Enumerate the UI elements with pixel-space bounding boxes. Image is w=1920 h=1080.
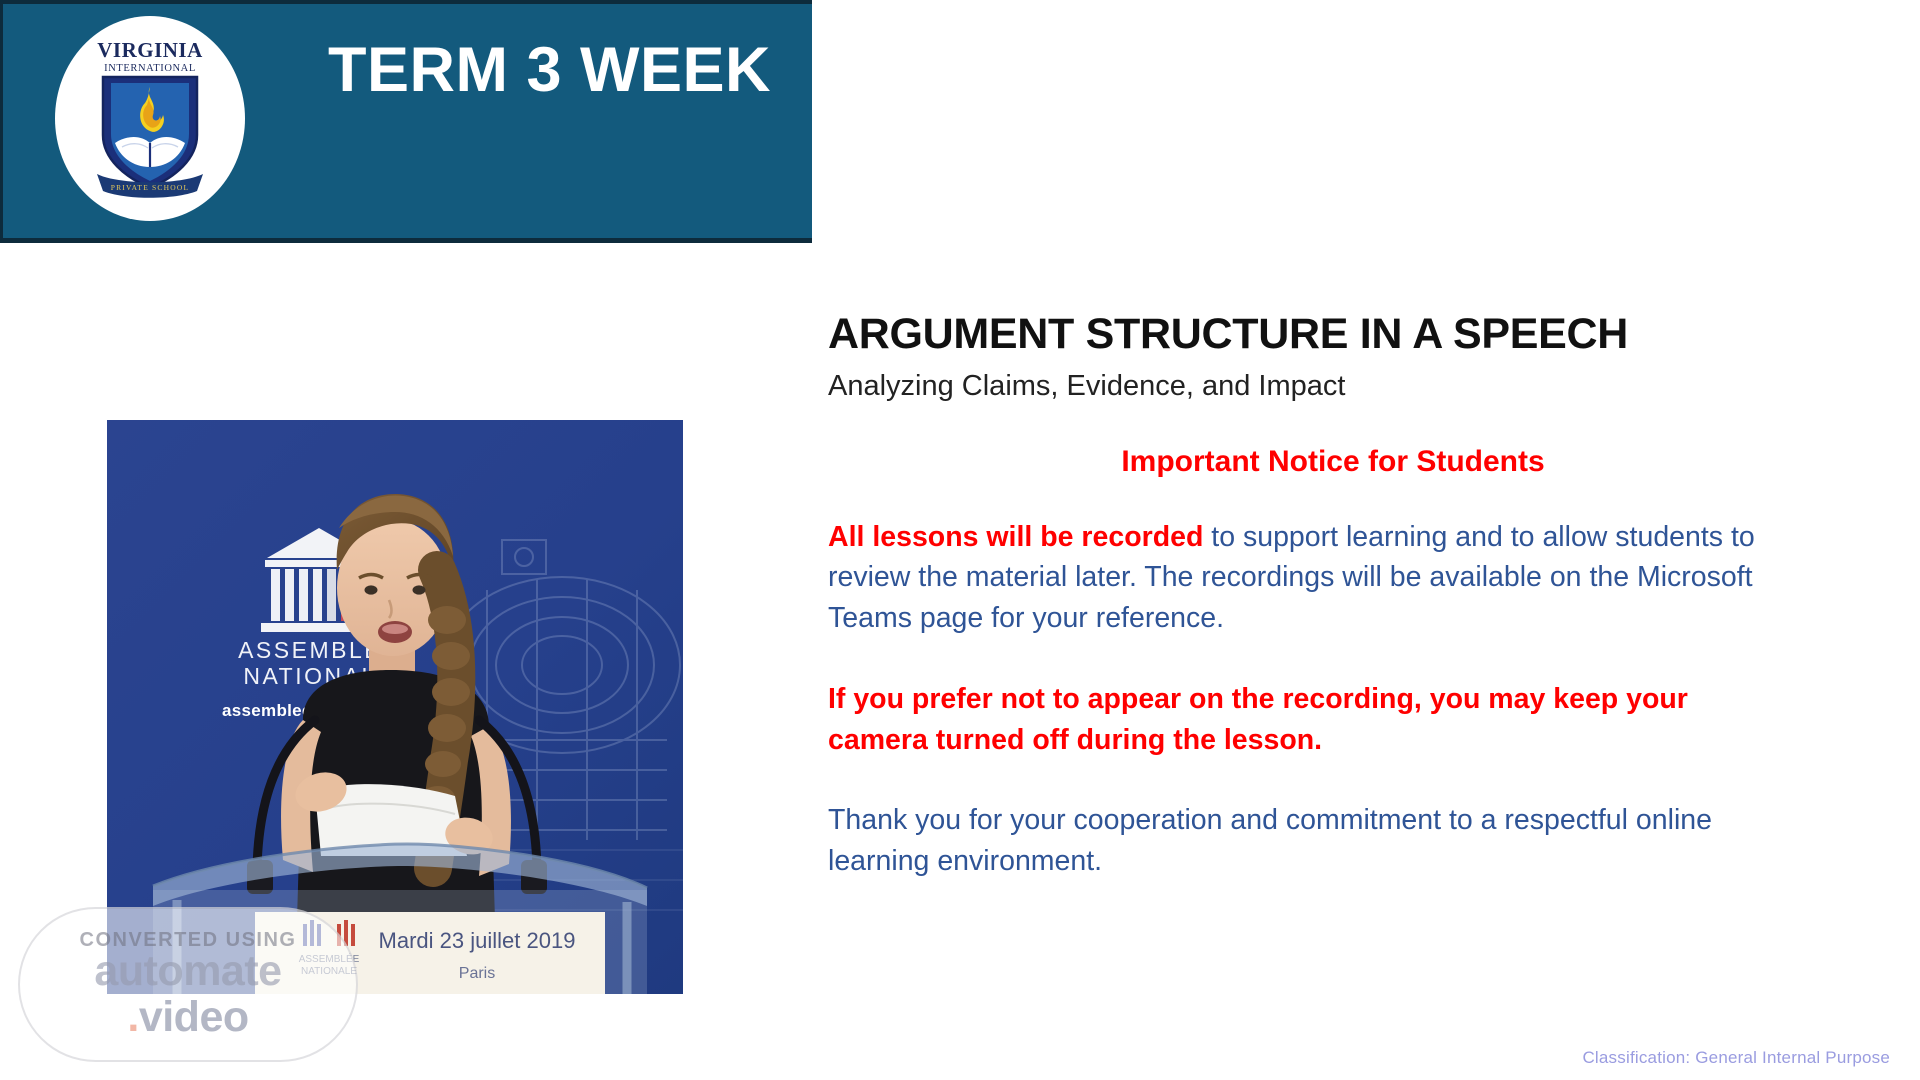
school-logo: VIRGINIA INTERNATIONAL PRIVATE SCHOOL <box>55 16 245 221</box>
speaker-photo-graphic: ASSEMBLÉE NATIONALE assemblee-nationale. <box>107 420 683 994</box>
page-title: ARGUMENT STRUCTURE IN A SPEECH <box>828 310 1838 358</box>
svg-text:Mardi 23 juillet 2019: Mardi 23 juillet 2019 <box>379 928 576 953</box>
banner-title: TERM 3 WEEK <box>328 36 771 105</box>
watermark-domain-word: video <box>139 993 249 1041</box>
svg-text:NATIONALE: NATIONALE <box>301 966 357 977</box>
slide-canvas: VIRGINIA INTERNATIONAL PRIVATE SCHOOL TE… <box>0 0 1920 1080</box>
content-column: ARGUMENT STRUCTURE IN A SPEECH Analyzing… <box>828 310 1838 881</box>
classification-label: Classification: General Internal Purpose <box>1582 1048 1890 1068</box>
svg-text:Paris: Paris <box>459 965 495 982</box>
svg-text:PRIVATE SCHOOL: PRIVATE SCHOOL <box>111 183 190 192</box>
notice-heading: Important Notice for Students <box>828 444 1838 480</box>
thank-you-paragraph: Thank you for your cooperation and commi… <box>828 800 1758 881</box>
camera-off-paragraph: If you prefer not to appear on the recor… <box>828 679 1733 760</box>
svg-text:VIRGINIA: VIRGINIA <box>97 38 203 62</box>
svg-text:ASSEMBLÉE: ASSEMBLÉE <box>299 952 360 965</box>
recording-paragraph-emphasis: All lessons will be recorded <box>828 521 1203 553</box>
recording-paragraph: All lessons will be recorded to support … <box>828 517 1838 638</box>
watermark-dot: . <box>127 993 138 1041</box>
svg-text:INTERNATIONAL: INTERNATIONAL <box>104 63 196 74</box>
header-banner: VIRGINIA INTERNATIONAL PRIVATE SCHOOL TE… <box>0 0 812 243</box>
watermark-domain-text: .video <box>127 995 248 1040</box>
school-crest-icon: VIRGINIA INTERNATIONAL PRIVATE SCHOOL <box>75 31 225 206</box>
page-subtitle: Analyzing Claims, Evidence, and Impact <box>828 369 1838 404</box>
speaker-photo: ASSEMBLÉE NATIONALE assemblee-nationale. <box>107 420 683 994</box>
